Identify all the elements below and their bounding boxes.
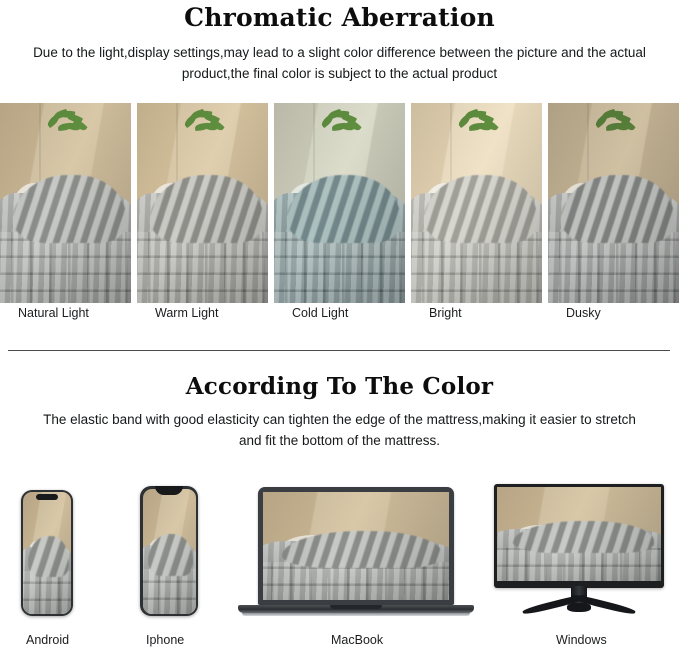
- plant-icon: [45, 109, 100, 153]
- page-title-according-to-the-color: According To The Color: [0, 373, 679, 401]
- blanket-drape: [513, 521, 654, 553]
- macbook-foot: [242, 613, 470, 616]
- lighting-label-natural-light: Natural Light: [0, 306, 131, 328]
- lighting-label-bright: Bright: [411, 306, 542, 328]
- blanket-photo-macbook: [263, 492, 449, 600]
- blanket-photo-cold-light: [274, 103, 405, 303]
- camera-cutout-icon: [36, 494, 58, 500]
- page-title-chromatic-aberration: Chromatic Aberration: [0, 3, 679, 33]
- lighting-tile-natural-light: [0, 103, 131, 303]
- product-detail-page: Chromatic Aberration Due to the light,di…: [0, 3, 679, 648]
- lighting-tile-dusky: [548, 103, 679, 303]
- lighting-tile-cold-light: [274, 103, 405, 303]
- lighting-label-row: Natural Light Warm Light Cold Light Brig…: [0, 306, 679, 328]
- iphone-frame: [140, 486, 198, 616]
- plant-icon: [456, 109, 511, 153]
- blanket-photo-dusky: [548, 103, 679, 303]
- monitor-stand-base: [510, 601, 648, 621]
- plant-icon: [319, 109, 374, 153]
- device-preview-row: Android Iphone: [0, 473, 679, 623]
- android-frame: [21, 490, 73, 616]
- blanket-photo-bright: [411, 103, 542, 303]
- blanket-photo-windows: [497, 487, 661, 581]
- lighting-label-cold-light: Cold Light: [274, 306, 405, 328]
- section-divider: [8, 350, 670, 351]
- monitor-stand-hub: [567, 603, 591, 612]
- plant-icon: [593, 109, 648, 153]
- lighting-tile-warm-light: [137, 103, 268, 303]
- lighting-label-warm-light: Warm Light: [137, 306, 268, 328]
- blanket-photo-natural-light: [0, 103, 131, 303]
- macbook-lid: [258, 487, 454, 605]
- android-screen: [23, 492, 71, 614]
- monitor-frame: [494, 484, 664, 588]
- macbook-screen: [263, 492, 449, 600]
- iphone-screen: [143, 489, 196, 614]
- macbook-hinge-notch: [330, 605, 382, 609]
- chromatic-aberration-description: Due to the light,display settings,may le…: [25, 33, 655, 84]
- lighting-tile-bright: [411, 103, 542, 303]
- plant-icon: [182, 109, 237, 153]
- blanket-photo-android: [23, 492, 71, 614]
- blanket-drape: [148, 534, 194, 577]
- blanket-photo-iphone: [143, 489, 196, 614]
- according-to-the-color-description: The elastic band with good elasticity ca…: [40, 401, 640, 451]
- blanket-photo-warm-light: [137, 103, 268, 303]
- blanket-drape: [28, 536, 69, 577]
- lighting-comparison-strip: [0, 103, 679, 303]
- monitor-screen: [497, 487, 661, 581]
- lighting-label-dusky: Dusky: [548, 306, 679, 328]
